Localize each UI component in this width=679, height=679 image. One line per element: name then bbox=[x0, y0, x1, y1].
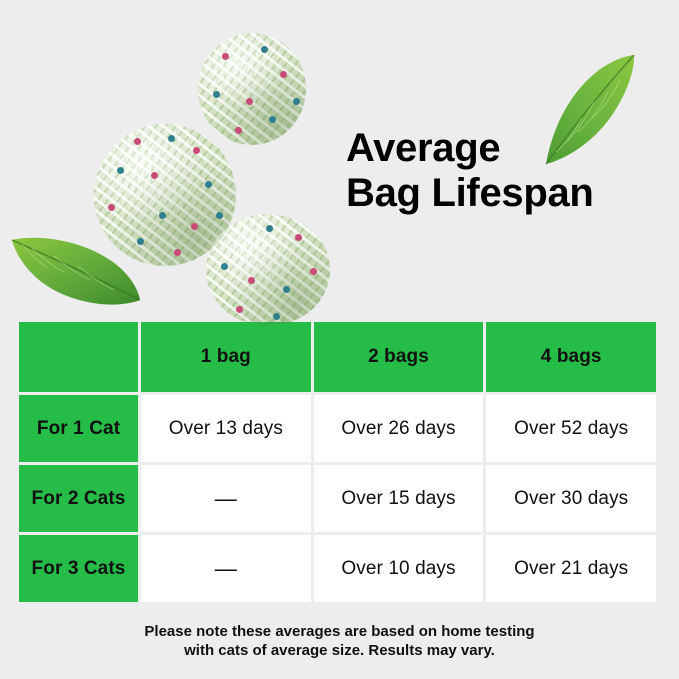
cell-value: Over 26 days bbox=[341, 418, 455, 440]
row-header-3-cats: For 3 Cats bbox=[19, 535, 138, 602]
column-header-1-bag: 1 bag bbox=[141, 322, 311, 392]
row-label: For 3 Cats bbox=[32, 558, 126, 580]
footnote: Please note these averages are based on … bbox=[0, 622, 679, 660]
cell-value: — bbox=[215, 556, 237, 582]
table-row: For 2 Cats — Over 15 days Over 30 days bbox=[19, 465, 656, 532]
lifespan-table: 1 bag 2 bags 4 bags For 1 Cat Over 13 da… bbox=[19, 322, 656, 602]
row-label: For 1 Cat bbox=[37, 418, 120, 440]
cell-value: Over 30 days bbox=[514, 488, 628, 510]
column-header-4-bags: 4 bags bbox=[486, 322, 656, 392]
row-label: For 2 Cats bbox=[32, 488, 126, 510]
row-header-1-cat: For 1 Cat bbox=[19, 395, 138, 462]
column-header-label: 2 bags bbox=[368, 346, 429, 368]
table-cell: Over 10 days bbox=[314, 535, 484, 602]
table-cell: — bbox=[141, 465, 311, 532]
infographic-canvas: Average Bag Lifespan 1 bag 2 bags 4 bags… bbox=[0, 0, 679, 679]
cell-value: — bbox=[215, 486, 237, 512]
cell-value: Over 13 days bbox=[169, 418, 283, 440]
column-header-2-bags: 2 bags bbox=[314, 322, 484, 392]
footnote-line-1: Please note these averages are based on … bbox=[0, 622, 679, 641]
table-cell: Over 13 days bbox=[141, 395, 311, 462]
title-line-1: Average bbox=[346, 126, 646, 171]
litter-clump-top bbox=[198, 33, 306, 145]
footnote-line-2: with cats of average size. Results may v… bbox=[0, 641, 679, 660]
table-cell: Over 15 days bbox=[314, 465, 484, 532]
cell-value: Over 52 days bbox=[514, 418, 628, 440]
table-cell: Over 21 days bbox=[486, 535, 656, 602]
table-cell: Over 30 days bbox=[486, 465, 656, 532]
cell-value: Over 10 days bbox=[341, 558, 455, 580]
page-title: Average Bag Lifespan bbox=[346, 126, 646, 216]
row-header-2-cats: For 2 Cats bbox=[19, 465, 138, 532]
cell-value: Over 21 days bbox=[514, 558, 628, 580]
table-row: For 3 Cats — Over 10 days Over 21 days bbox=[19, 535, 656, 602]
title-line-2: Bag Lifespan bbox=[346, 171, 646, 216]
litter-clump-bottom bbox=[206, 214, 330, 326]
table-cell: Over 52 days bbox=[486, 395, 656, 462]
table-corner-cell bbox=[19, 322, 138, 392]
table-header-row: 1 bag 2 bags 4 bags bbox=[19, 322, 656, 392]
column-header-label: 4 bags bbox=[541, 346, 602, 368]
column-header-label: 1 bag bbox=[201, 346, 251, 368]
table-cell: Over 26 days bbox=[314, 395, 484, 462]
cell-value: Over 15 days bbox=[341, 488, 455, 510]
table-row: For 1 Cat Over 13 days Over 26 days Over… bbox=[19, 395, 656, 462]
clump-shading bbox=[198, 33, 306, 145]
table-cell: — bbox=[141, 535, 311, 602]
